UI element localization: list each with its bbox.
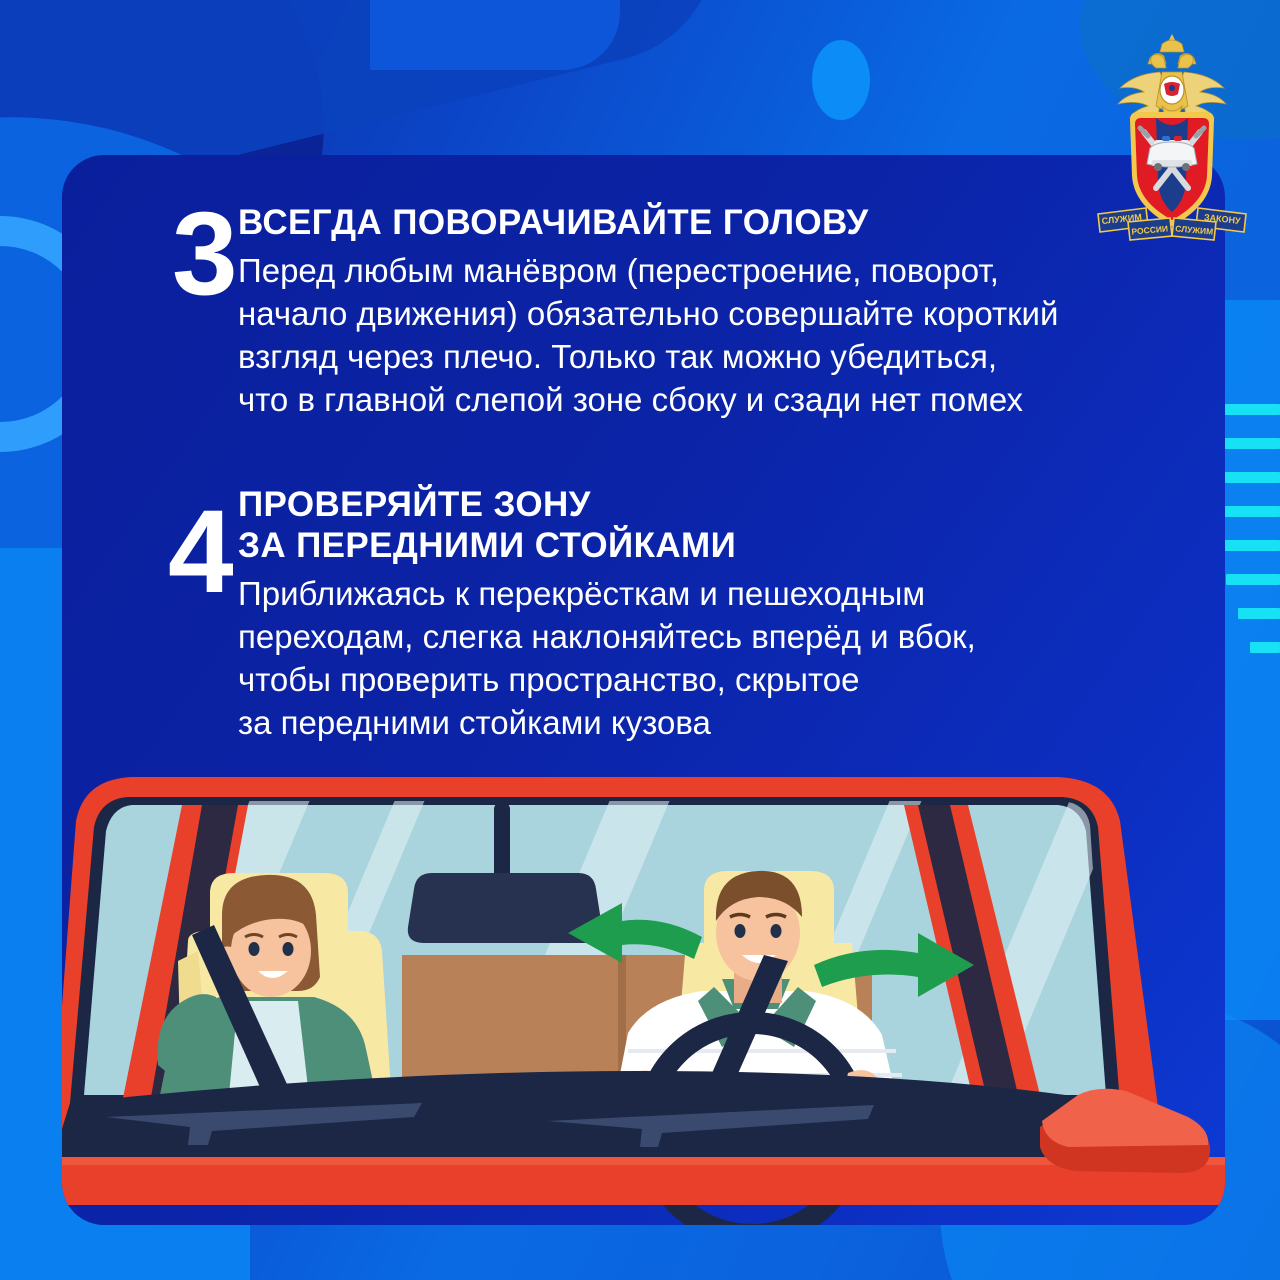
step-3-body-line: начало движения) обязательно совершайте … bbox=[238, 293, 1218, 336]
step-3: 3 ВСЕГДА ПОВОРАЧИВАЙТЕ ГОЛОВУ Перед любы… bbox=[238, 203, 1218, 422]
step-4: 4 ПРОВЕРЯЙТЕ ЗОНУ ЗА ПЕРЕДНИМИ СТОЙКАМИ … bbox=[238, 485, 1218, 744]
step-4-body-line: переходам, слегка наклоняйтесь вперёд и … bbox=[238, 616, 1218, 659]
step-4-heading: ПРОВЕРЯЙТЕ ЗОНУ ЗА ПЕРЕДНИМИ СТОЙКАМИ bbox=[238, 485, 1218, 567]
cyan-tick bbox=[1238, 608, 1280, 619]
bg-rounded-square-top bbox=[370, 0, 620, 70]
infographic-poster: 3 ВСЕГДА ПОВОРАЧИВАЙТЕ ГОЛОВУ Перед любы… bbox=[0, 0, 1280, 1280]
cyan-tick bbox=[1226, 574, 1280, 585]
passenger-eye-right bbox=[283, 942, 294, 956]
step-4-heading-line: ЗА ПЕРЕДНИМИ СТОЙКАМИ bbox=[238, 526, 1218, 567]
mirror-housing bbox=[1042, 1089, 1208, 1147]
mirror-stem bbox=[494, 803, 510, 881]
step-3-body-line: Перед любым манёвром (перестроение, пово… bbox=[238, 250, 1218, 293]
step-3-body: Перед любым манёвром (перестроение, пово… bbox=[238, 250, 1218, 422]
step-4-heading-line: ПРОВЕРЯЙТЕ ЗОНУ bbox=[238, 485, 1218, 526]
step-4-number: 4 bbox=[168, 493, 232, 611]
driver-eye-right bbox=[771, 924, 782, 938]
eagle-wing-left bbox=[1118, 72, 1164, 118]
step-3-heading: ВСЕГДА ПОВОРАЧИВАЙТЕ ГОЛОВУ bbox=[238, 203, 1218, 244]
step-4-body-line: чтобы проверить пространство, скрытое bbox=[238, 659, 1218, 702]
side-mirror-svg bbox=[1040, 1075, 1240, 1195]
driver-eye-left bbox=[735, 924, 746, 938]
eagle-wing-right bbox=[1180, 72, 1226, 118]
double-headed-eagle-icon bbox=[1118, 34, 1226, 122]
step-3-number: 3 bbox=[172, 195, 236, 313]
emblem-svg: СЛУЖИМ РОССИИ СЛУЖИМ ЗАКОНУ bbox=[1092, 28, 1252, 248]
content-card: 3 ВСЕГДА ПОВОРАЧИВАЙТЕ ГОЛОВУ Перед любы… bbox=[62, 155, 1225, 1225]
bg-ellipse-top bbox=[812, 40, 870, 120]
step-4-body-line: Приближаясь к перекрёсткам и пешеходным bbox=[238, 573, 1218, 616]
step-4-body-line: за передними стойками кузова bbox=[238, 702, 1218, 745]
step-3-body-line: взгляд через плечо. Только так можно убе… bbox=[238, 336, 1218, 379]
mvd-gibdd-emblem: СЛУЖИМ РОССИИ СЛУЖИМ ЗАКОНУ bbox=[1092, 28, 1252, 248]
side-mirror-right bbox=[1040, 1075, 1240, 1195]
cyan-tick bbox=[1218, 404, 1280, 415]
step-3-body-line: что в главной слепой зоне сбоку и сзади … bbox=[238, 379, 1218, 422]
cyan-tick bbox=[1250, 642, 1280, 653]
step-4-body: Приближаясь к перекрёсткам и пешеходным … bbox=[238, 573, 1218, 745]
passenger-eye-left bbox=[249, 942, 260, 956]
